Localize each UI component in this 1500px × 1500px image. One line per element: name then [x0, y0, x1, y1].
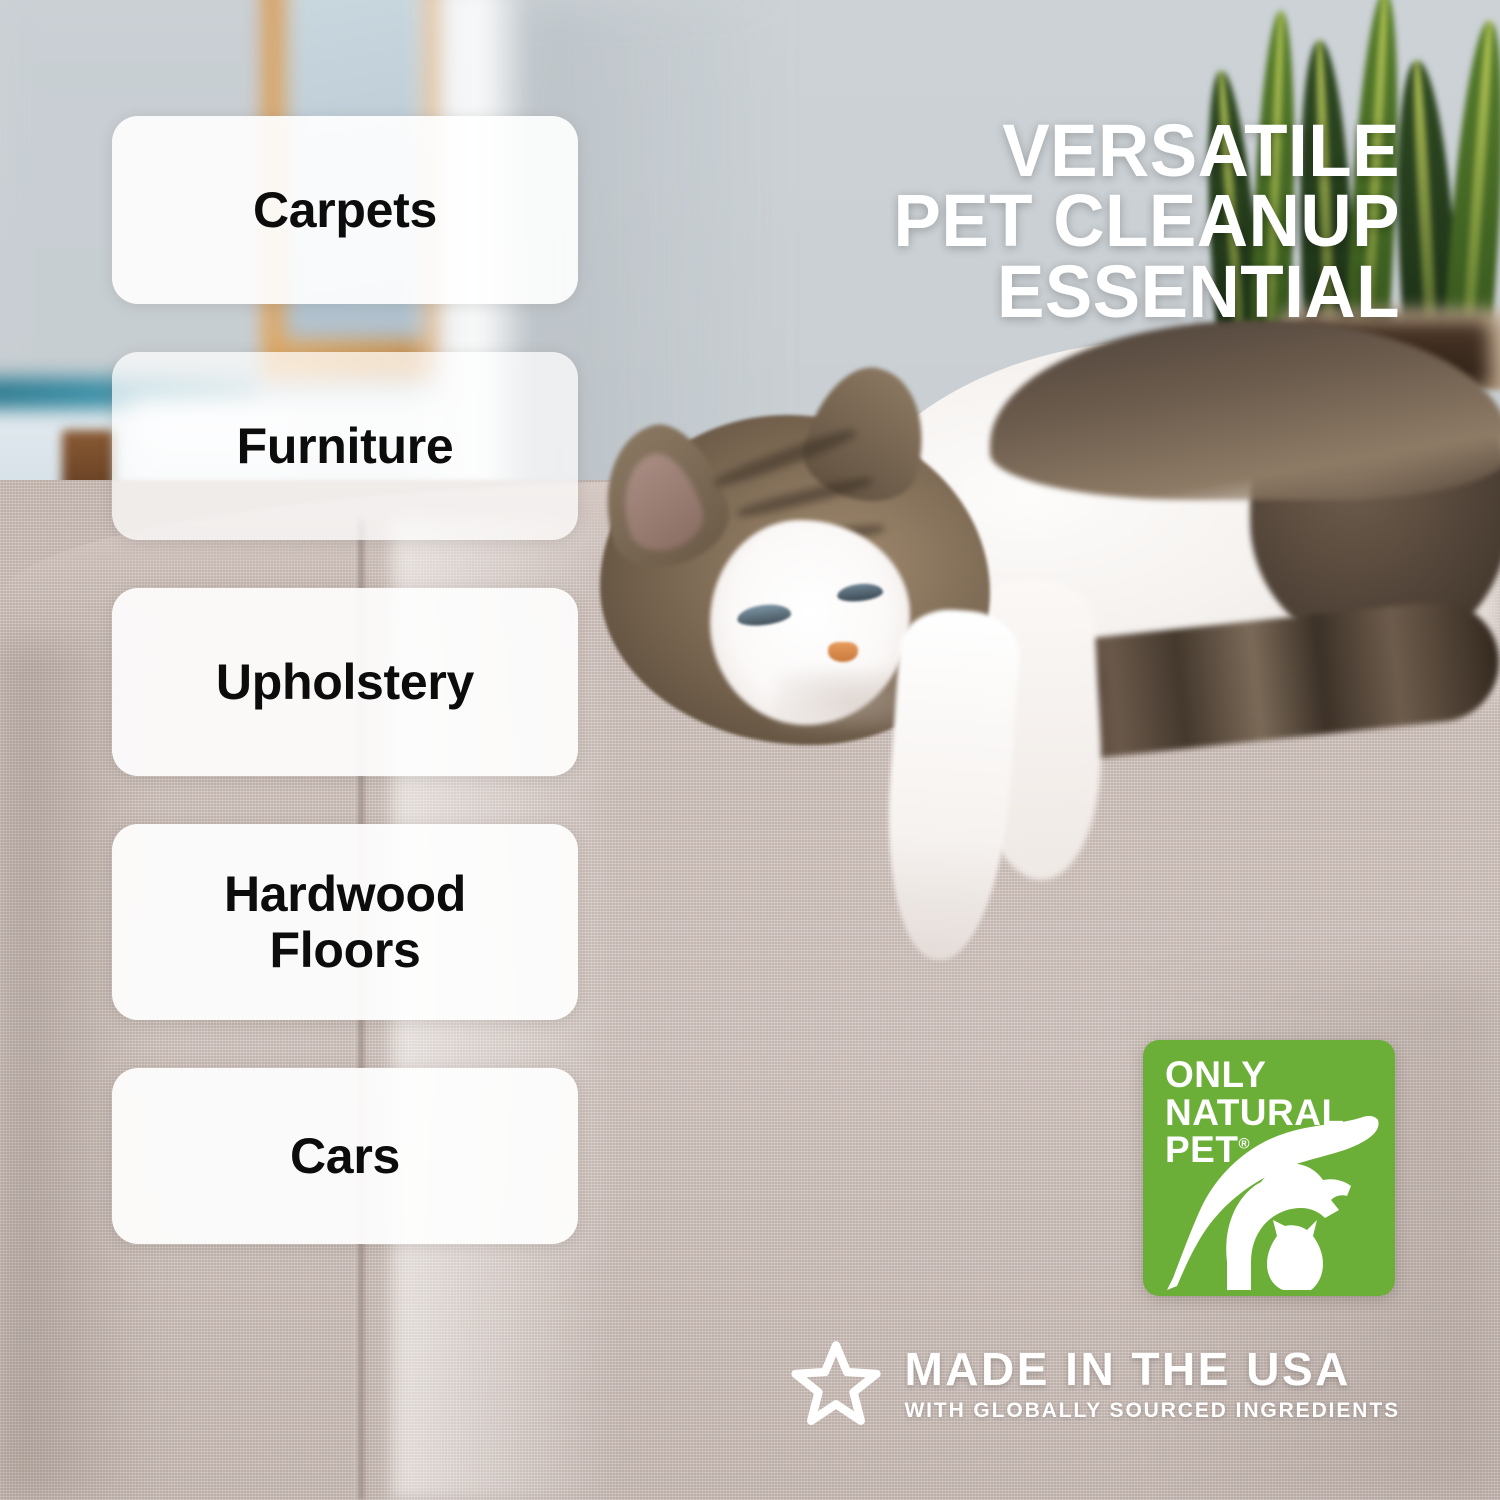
surface-pill-carpets[interactable]: Carpets: [112, 116, 578, 304]
cat-front-paw: [878, 606, 1022, 964]
made-in-usa-subline: WITH GLOBALLY SOURCED INGREDIENTS: [904, 1399, 1400, 1423]
surface-pill-upholstery[interactable]: Upholstery: [112, 588, 578, 776]
surface-pill-label: Carpets: [253, 182, 437, 238]
headline-line-1: VERSATILE: [709, 116, 1400, 186]
leaf-dog-cat-icon: [1143, 1112, 1395, 1296]
surface-pill-label: Cars: [290, 1128, 400, 1184]
headline-line-3: ESSENTIAL: [709, 257, 1400, 327]
surface-pill-label: Furniture: [237, 418, 454, 474]
headline-line-2: PET CLEANUP: [709, 186, 1400, 256]
surface-pill-cars[interactable]: Cars: [112, 1068, 578, 1244]
surface-pill-label: Upholstery: [216, 654, 474, 710]
star-outline-icon: [790, 1338, 882, 1430]
brand-logo-only-natural-pet[interactable]: ONLY NATURAL PET®: [1143, 1040, 1395, 1296]
made-in-usa-headline: MADE IN THE USA: [904, 1346, 1400, 1392]
cat-back-markings: [990, 320, 1500, 500]
cat-nose: [828, 642, 858, 662]
surface-pill-furniture[interactable]: Furniture: [112, 352, 578, 540]
surface-pill-label: Hardwood Floors: [224, 866, 466, 978]
brand-logo-line-1: ONLY: [1165, 1056, 1345, 1094]
made-in-usa-text: MADE IN THE USA WITH GLOBALLY SOURCED IN…: [904, 1346, 1400, 1423]
surface-list: Carpets Furniture Upholstery Hardwood Fl…: [112, 116, 578, 1244]
headline: VERSATILE PET CLEANUP ESSENTIAL: [680, 116, 1400, 327]
made-in-usa-badge: MADE IN THE USA WITH GLOBALLY SOURCED IN…: [790, 1338, 1400, 1430]
product-marketing-image: VERSATILE PET CLEANUP ESSENTIAL Carpets …: [0, 0, 1500, 1500]
cat-photo-subject: [560, 330, 1500, 1030]
surface-pill-hardwood-floors[interactable]: Hardwood Floors: [112, 824, 578, 1020]
